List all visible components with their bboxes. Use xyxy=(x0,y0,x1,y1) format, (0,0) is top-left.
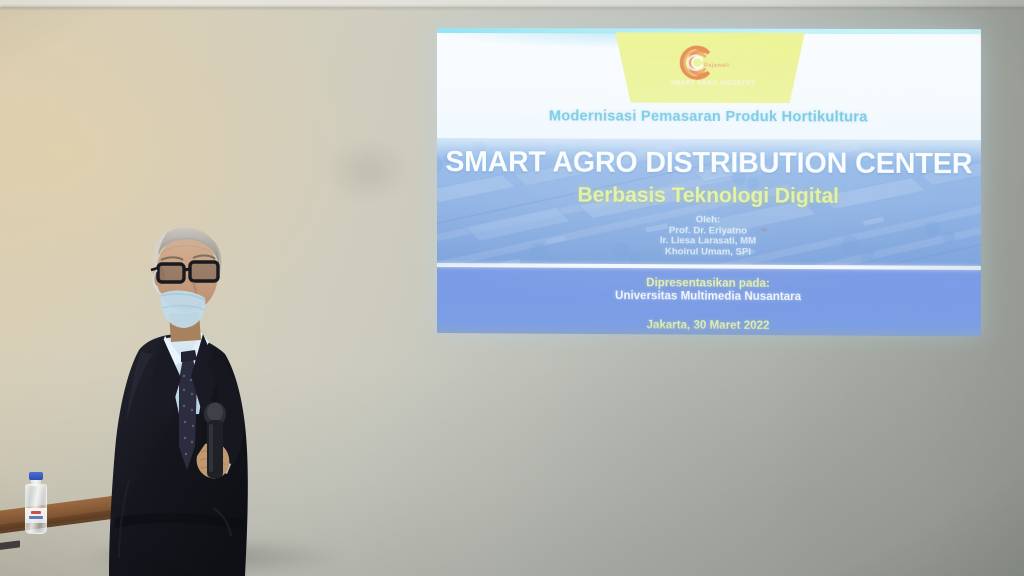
projected-slide[interactable]: Rajawali SMART AGRO INDUSTRY Modernisasi… xyxy=(437,28,981,337)
wall-smudge xyxy=(325,138,410,203)
logo-wordmark: Rajawali xyxy=(704,63,729,69)
speaker-person xyxy=(95,218,325,576)
logo-caption: SMART AGRO INDUSTRY xyxy=(638,81,789,87)
bottle-label-blue-stripe xyxy=(29,516,43,519)
bottle-cap xyxy=(29,472,43,480)
bottle-label-red-stripe xyxy=(31,511,41,514)
water-bottle xyxy=(23,472,49,534)
slide-eyebrow-text: Modernisasi Pemasaran Produk Hortikultur… xyxy=(437,108,981,126)
slide-authors-block: Oleh: Prof. Dr. Eriyatno Ir. Liesa Laras… xyxy=(437,214,981,259)
slide-main-title: SMART AGRO DISTRIBUTION CENTER xyxy=(437,146,981,181)
slide-sub-title: Berbasis Teknologi Digital xyxy=(437,183,981,210)
table-small-object xyxy=(0,540,20,550)
presentation-photo-scene: Rajawali SMART AGRO INDUSTRY Modernisasi… xyxy=(0,0,1024,576)
